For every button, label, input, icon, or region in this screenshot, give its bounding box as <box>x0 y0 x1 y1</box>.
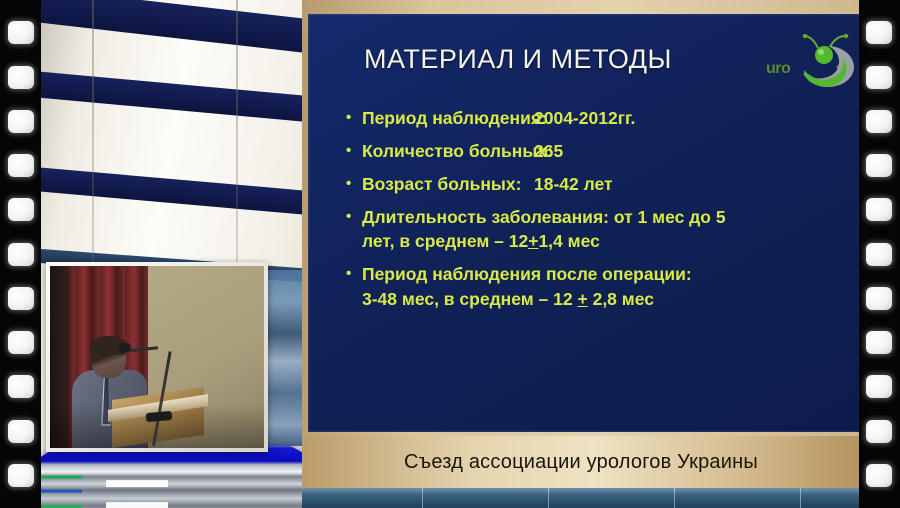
list-item: • Возраст больных: 18-42 лет <box>346 172 846 197</box>
desk-color-accents <box>40 470 82 508</box>
film-sprocket-hole <box>8 21 34 44</box>
film-sprocket-hole <box>866 375 892 398</box>
speaker-photo <box>46 262 268 452</box>
strip-seam <box>548 488 549 508</box>
list-item: • Количество больных: 265 <box>346 139 846 164</box>
film-sprocket-hole <box>866 21 892 44</box>
film-sprocket-hole <box>8 420 34 443</box>
film-sprocket-hole <box>866 287 892 310</box>
bullet-marker: • <box>346 205 362 230</box>
slide-title: МАТЕРИАЛ И МЕТОДЫ <box>308 44 728 75</box>
photo-vignette <box>50 404 264 448</box>
desk-highlight-bars <box>106 474 168 508</box>
film-sprocket-hole <box>866 243 892 266</box>
bullet-marker: • <box>346 139 362 164</box>
speaker-photo-image <box>50 266 264 448</box>
slide-bullet-list: • Период наблюдения: 2004-2012гг. • <box>346 106 846 320</box>
plus-minus-icon: + <box>577 289 587 309</box>
bullet-second-line-pre: 3-48 мес, в среднем – 12 <box>362 289 577 309</box>
plus-minus-icon: + <box>528 231 538 251</box>
backdrop-navy-band <box>40 68 340 130</box>
film-sprocket-hole <box>866 331 892 354</box>
logo-uro-text: uro <box>766 60 790 78</box>
bullet-value: 265 <box>534 139 563 164</box>
backdrop-navy-band <box>40 0 340 63</box>
slide-footer-text: Съезд ассоциации урологов Украины <box>404 451 758 474</box>
video-frame: МАТЕРИАЛ И МЕТОДЫ uro tv <box>40 0 860 508</box>
film-strip-right <box>859 0 900 508</box>
bullet-marker: • <box>346 172 362 197</box>
microphone-icon <box>118 343 131 352</box>
film-sprocket-hole <box>8 331 34 354</box>
bullet-value: 2004-2012гг. <box>534 106 635 131</box>
bullet-second-line: 3-48 мес, в среднем – 12 + 2,8 мес <box>362 287 846 312</box>
bullet-second-line-post: 1,4 мес <box>538 231 599 251</box>
bullet-label: Возраст больных: <box>362 172 534 197</box>
strip-seam <box>800 488 801 508</box>
bullet-content: Длительность заболевания: от 1 мес до 5 … <box>362 205 846 255</box>
film-sprocket-hole <box>8 464 34 487</box>
slide-content-area: МАТЕРИАЛ И МЕТОДЫ uro tv <box>308 14 860 432</box>
list-item: • Длительность заболевания: от 1 мес до … <box>346 205 846 255</box>
bullet-second-line-pre: лет, в среднем – 12 <box>362 231 528 251</box>
strip-seam <box>674 488 675 508</box>
film-sprocket-hole <box>8 66 34 89</box>
bullet-content: Период наблюдения после операции: 3-48 м… <box>362 262 846 312</box>
film-sprocket-hole <box>866 154 892 177</box>
bullet-marker: • <box>346 262 362 287</box>
bullet-marker: • <box>346 106 362 131</box>
film-sprocket-hole <box>866 420 892 443</box>
presentation-slide: МАТЕРИАЛ И МЕТОДЫ uro tv <box>302 0 860 508</box>
backdrop-navy-band <box>40 164 340 223</box>
bullet-content: Возраст больных: 18-42 лет <box>362 172 846 197</box>
film-sprocket-hole <box>8 243 34 266</box>
film-sprocket-hole <box>866 110 892 133</box>
bullet-content: Период наблюдения: 2004-2012гг. <box>362 106 846 131</box>
bullet-label: Длительность заболевания: от 1 мес до 5 <box>362 207 726 227</box>
film-sprocket-hole <box>866 66 892 89</box>
slide-bottom-strip <box>302 488 860 508</box>
film-sprocket-hole <box>866 198 892 221</box>
film-sprocket-hole <box>8 154 34 177</box>
beetle-icon <box>796 34 858 92</box>
bullet-label: Период наблюдения: <box>362 106 534 131</box>
film-sprocket-hole <box>866 464 892 487</box>
film-strip-left <box>0 0 41 508</box>
film-sprocket-hole <box>8 287 34 310</box>
list-item: • Период наблюдения: 2004-2012гг. <box>346 106 846 131</box>
bullet-label: Количество больных: <box>362 139 534 164</box>
bullet-label: Период наблюдения после операции: <box>362 264 692 284</box>
film-sprocket-hole <box>8 375 34 398</box>
list-item: • Период наблюдения после операции: 3-48… <box>346 262 846 312</box>
bullet-content: Количество больных: 265 <box>362 139 846 164</box>
film-sprocket-hole <box>8 110 34 133</box>
urotv-logo: uro tv <box>764 32 860 94</box>
slide-footer-band: Съезд ассоциации урологов Украины <box>302 436 860 488</box>
strip-seam <box>422 488 423 508</box>
bullet-value: 18-42 лет <box>534 172 613 197</box>
bullet-second-line-post: 2,8 мес <box>588 289 654 309</box>
screenshot-root: МАТЕРИАЛ И МЕТОДЫ uro tv <box>0 0 900 508</box>
film-sprocket-hole <box>8 198 34 221</box>
bullet-second-line: лет, в среднем – 12+1,4 мес <box>362 229 846 254</box>
